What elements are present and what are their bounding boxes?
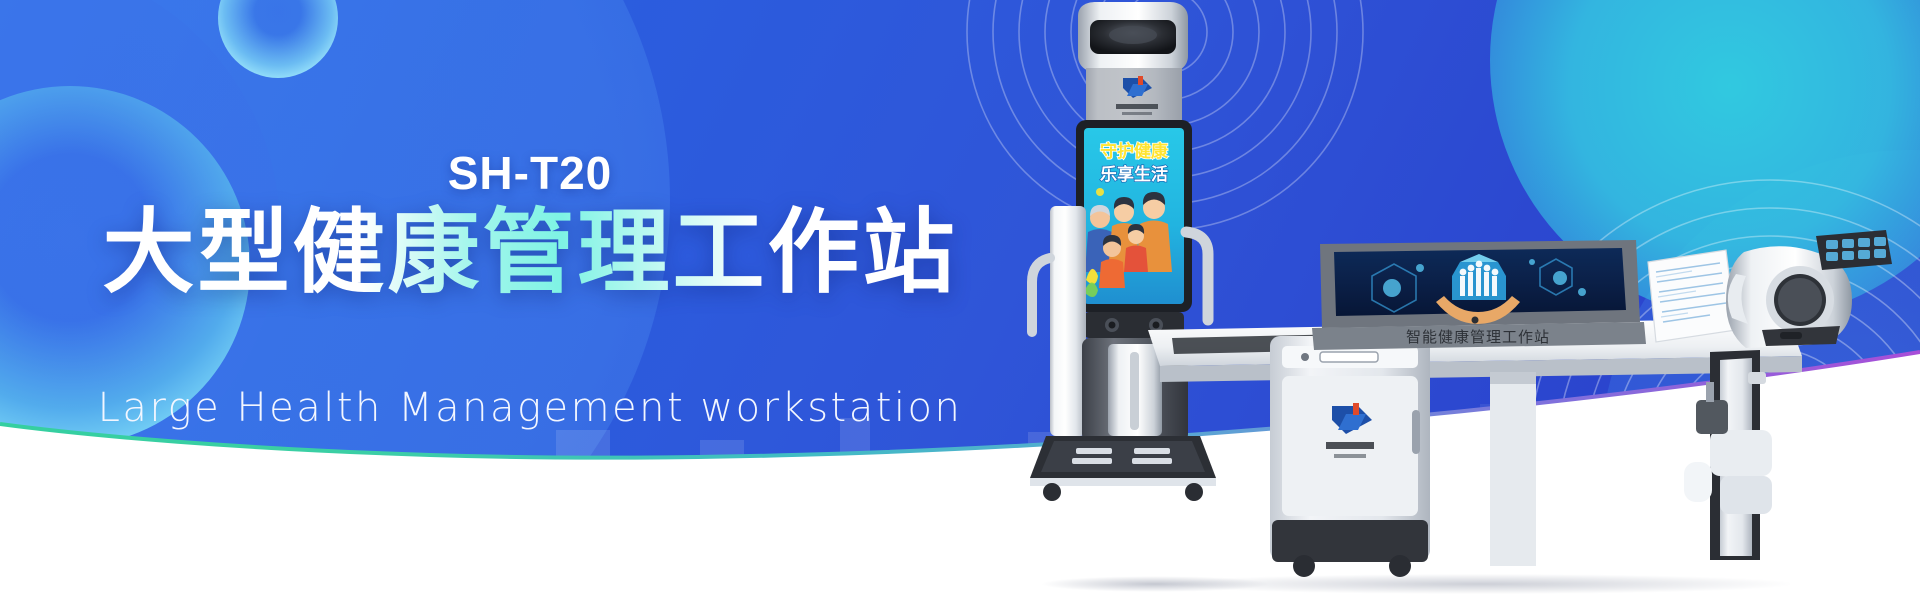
monitor-indicator-led bbox=[1472, 317, 1479, 324]
cabinet-brand-subtext bbox=[1334, 454, 1366, 458]
kiosk-foot-left bbox=[1043, 483, 1061, 501]
svg-text:乐享生活: 乐享生活 bbox=[1100, 164, 1168, 185]
kiosk-lens-highlight bbox=[1109, 26, 1157, 44]
desk-left-leg-top bbox=[1490, 372, 1536, 384]
monitor-caption-text: 智能健康管理工作站 bbox=[1406, 328, 1550, 346]
desk-ground-shadow bbox=[1170, 574, 1790, 594]
kiosk-handrail-left bbox=[1032, 258, 1050, 332]
accessory-reader-stem bbox=[1706, 382, 1714, 402]
glow-blob-halo-left bbox=[0, 0, 280, 500]
kiosk-base-plate bbox=[1030, 478, 1216, 486]
accessory-cup bbox=[1684, 462, 1712, 502]
glow-blob-large-left bbox=[0, 0, 670, 600]
printer-door-handle bbox=[1412, 410, 1420, 454]
receipt-printout bbox=[1648, 250, 1736, 342]
desk-unit: 智能健康管理工作站 bbox=[1148, 230, 1892, 577]
kiosk-brand-text bbox=[1116, 104, 1158, 109]
kiosk-left-pillar bbox=[1050, 206, 1086, 436]
cabinet-brand-text bbox=[1326, 442, 1374, 449]
kiosk-foot-right bbox=[1185, 483, 1203, 501]
printer-output-slot bbox=[1320, 352, 1378, 362]
kiosk-brand-subtext bbox=[1122, 112, 1152, 115]
printer-indicator bbox=[1301, 353, 1309, 361]
kiosk-unit: 守护健康 乐享生活 bbox=[1030, 2, 1216, 501]
svg-text:守护健康: 守护健康 bbox=[1100, 141, 1169, 162]
accessory-pod-upper bbox=[1710, 430, 1772, 476]
glow-blob-top-left bbox=[0, 86, 250, 446]
cabinet-base bbox=[1272, 520, 1428, 562]
kiosk-column-groove bbox=[1130, 352, 1139, 430]
kiosk-sensor-left-lens bbox=[1109, 322, 1116, 329]
accessory-pod-lower bbox=[1720, 476, 1772, 514]
bp-base-slot bbox=[1780, 332, 1802, 339]
workstation-svg: 守护健康 乐享生活 bbox=[1020, 0, 1920, 600]
kiosk-screen-dot bbox=[1096, 188, 1104, 196]
desk-left-leg bbox=[1490, 372, 1536, 566]
desk-monitor: 智能健康管理工作站 bbox=[1312, 240, 1646, 350]
product-image: 守护健康 乐享生活 bbox=[1020, 0, 1920, 600]
accessory-reader bbox=[1696, 400, 1728, 434]
glow-blob-small-top bbox=[218, 0, 338, 78]
accessory-switch bbox=[1748, 372, 1766, 384]
kiosk-scale-surface bbox=[1041, 441, 1205, 472]
blood-pressure-monitor bbox=[1726, 230, 1892, 348]
kiosk-sensor-right-lens bbox=[1153, 322, 1160, 329]
product-hero-banner: SH-T20 大型健康管理工作站 Large Health Management… bbox=[0, 0, 1920, 600]
